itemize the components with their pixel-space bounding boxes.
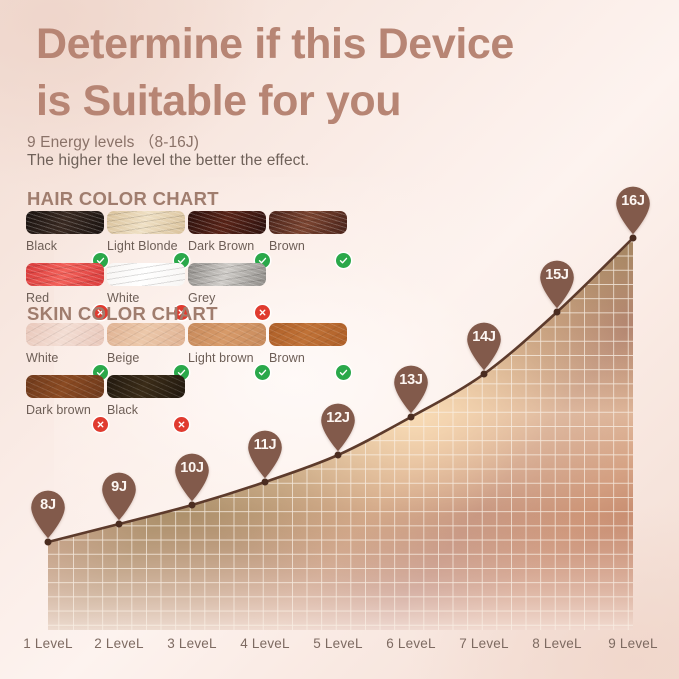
- hair-color-swatch-grid: BlackLight BlondeDark BrownBrownRedWhite…: [26, 211, 350, 315]
- infographic-root: 8J9J10J11J12J13J14J15J16J 1 LeveL2 LeveL…: [0, 0, 679, 679]
- page-title-line-2: is Suitable for you: [36, 73, 656, 130]
- hair-swatch-color: [188, 211, 266, 234]
- energy-pin[interactable]: 10J: [170, 449, 214, 502]
- x-axis-tick: 4 LeveL: [240, 636, 289, 651]
- cross-icon: [93, 417, 108, 432]
- energy-pin-label: 10J: [180, 460, 204, 476]
- skin-swatch-label: Beige: [107, 351, 185, 365]
- x-axis-tick: 9 LeveL: [608, 636, 657, 651]
- skin-swatch[interactable]: Brown: [269, 323, 347, 375]
- hair-swatch-color: [26, 263, 104, 286]
- subtitle-energy-levels: 9 Energy levels （8-16J): [27, 130, 199, 152]
- check-icon: [255, 365, 270, 380]
- skin-swatch[interactable]: Dark brown: [26, 375, 104, 427]
- skin-swatch-color: [107, 375, 185, 398]
- hair-swatch-color: [107, 263, 185, 286]
- energy-pin-label: 13J: [399, 372, 423, 388]
- energy-pin[interactable]: 14J: [462, 318, 506, 371]
- swatch-row: Dark brownBlack: [26, 375, 350, 427]
- x-axis-tick: 3 LeveL: [167, 636, 216, 651]
- x-axis-tick: 8 LeveL: [532, 636, 581, 651]
- page-title-line-1: Determine if this Device: [36, 20, 514, 68]
- chart-data-point: [408, 414, 415, 421]
- hair-swatch[interactable]: Black: [26, 211, 104, 263]
- hair-swatch[interactable]: Dark Brown: [188, 211, 266, 263]
- skin-swatch-label: Light brown: [188, 351, 266, 365]
- energy-pin-label: 16J: [621, 193, 645, 209]
- skin-swatch[interactable]: Light brown: [188, 323, 266, 375]
- chart-data-point: [335, 452, 342, 459]
- energy-pin[interactable]: 13J: [389, 361, 433, 414]
- chart-data-point: [481, 371, 488, 378]
- chart-x-axis-labels: 1 LeveL2 LeveL3 LeveL4 LeveL5 LeveL6 Lev…: [0, 636, 679, 662]
- chart-data-point: [554, 309, 561, 316]
- chart-data-point: [262, 479, 269, 486]
- skin-color-chart-heading: SKIN COLOR CHART: [27, 303, 218, 325]
- energy-pin-label: 11J: [254, 437, 277, 453]
- check-icon: [336, 253, 351, 268]
- swatch-row: WhiteBeigeLight brownBrown: [26, 323, 350, 375]
- skin-swatch-color: [269, 323, 347, 346]
- subtitle-effect-note: The higher the level the better the effe…: [27, 152, 309, 170]
- x-axis-tick: 5 LeveL: [313, 636, 362, 651]
- skin-swatch[interactable]: Beige: [107, 323, 185, 375]
- energy-pin[interactable]: 8J: [26, 486, 70, 539]
- skin-swatch[interactable]: White: [26, 323, 104, 375]
- energy-pin-label: 14J: [472, 329, 496, 345]
- x-axis-tick: 7 LeveL: [459, 636, 508, 651]
- hair-swatch-color: [26, 211, 104, 234]
- skin-swatch-label: White: [26, 351, 104, 365]
- skin-swatch-color: [188, 323, 266, 346]
- skin-swatch-color: [26, 375, 104, 398]
- hair-swatch[interactable]: Brown: [269, 211, 347, 263]
- x-axis-tick: 1 LeveL: [23, 636, 72, 651]
- check-icon: [336, 365, 351, 380]
- cross-icon: [174, 417, 189, 432]
- skin-swatch-label: Black: [107, 403, 185, 417]
- energy-pin-label: 15J: [545, 267, 569, 283]
- page-title: Determine if this Device is Suitable for…: [36, 16, 656, 130]
- chart-data-point: [189, 502, 196, 509]
- energy-pin[interactable]: 9J: [97, 468, 141, 521]
- energy-pin-label: 8J: [40, 497, 56, 513]
- skin-swatch-color: [107, 323, 185, 346]
- hair-swatch[interactable]: Light Blonde: [107, 211, 185, 263]
- energy-pin-label: 9J: [111, 479, 127, 495]
- chart-data-point: [116, 521, 123, 528]
- energy-pin[interactable]: 15J: [535, 256, 579, 309]
- hair-swatch-color: [188, 263, 266, 286]
- chart-data-point: [45, 539, 52, 546]
- hair-swatch-label: Brown: [269, 239, 347, 253]
- skin-swatch-color: [26, 323, 104, 346]
- energy-pin[interactable]: 16J: [611, 182, 655, 235]
- hair-swatch-label: Light Blonde: [107, 239, 185, 253]
- hair-swatch-label: Black: [26, 239, 104, 253]
- swatch-row: BlackLight BlondeDark BrownBrown: [26, 211, 350, 263]
- skin-swatch-label: Dark brown: [26, 403, 104, 417]
- cross-icon: [255, 305, 270, 320]
- hair-swatch-color: [269, 211, 347, 234]
- hair-color-chart-heading: HAIR COLOR CHART: [27, 188, 219, 210]
- hair-swatch-color: [107, 211, 185, 234]
- energy-pin[interactable]: 11J: [243, 426, 287, 479]
- skin-swatch[interactable]: Black: [107, 375, 185, 427]
- hair-swatch-label: Dark Brown: [188, 239, 266, 253]
- x-axis-tick: 2 LeveL: [94, 636, 143, 651]
- x-axis-tick: 6 LeveL: [386, 636, 435, 651]
- skin-swatch-label: Brown: [269, 351, 347, 365]
- skin-color-swatch-grid: WhiteBeigeLight brownBrownDark brownBlac…: [26, 323, 350, 427]
- chart-data-point: [630, 235, 637, 242]
